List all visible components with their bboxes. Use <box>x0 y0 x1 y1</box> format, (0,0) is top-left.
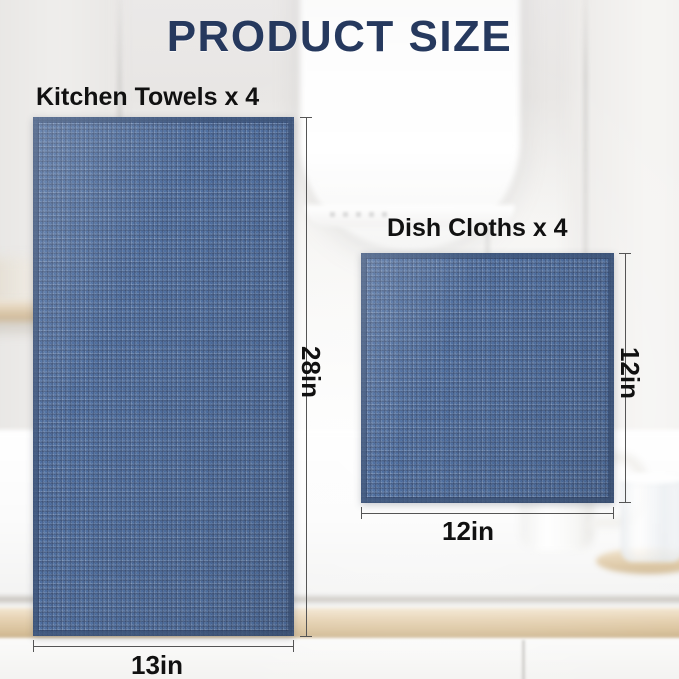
cloth-height-tick-top <box>619 253 631 254</box>
range-hood-lights <box>330 212 390 217</box>
cloth-width-tick-left <box>361 507 362 519</box>
kitchen-towel-swatch <box>33 117 294 636</box>
lower-cabinet <box>0 638 679 679</box>
cloth-height-tick-bottom <box>619 502 631 503</box>
towel-height-label: 28in <box>295 346 326 398</box>
cloth-height-label: 12in <box>614 347 645 399</box>
dish-cloth-swatch <box>361 253 614 503</box>
dish-cloths-label: Dish Cloths x 4 <box>387 214 568 243</box>
drinking-glass <box>621 476 679 562</box>
towel-sheen <box>33 117 294 636</box>
product-size-infographic: PRODUCT SIZE Kitchen Towels x 4 13in 28i… <box>0 0 679 679</box>
drinking-glass-rim <box>618 472 679 484</box>
cloth-width-label: 12in <box>442 516 494 547</box>
towel-height-tick-bottom <box>300 636 312 637</box>
cloth-sheen <box>361 253 614 503</box>
towel-width-dimension-line <box>33 646 294 647</box>
cloth-width-tick-right <box>613 507 614 519</box>
kitchen-towels-label: Kitchen Towels x 4 <box>36 83 259 112</box>
cloth-width-dimension-line <box>361 513 614 514</box>
towel-width-tick-left <box>33 640 34 652</box>
page-title: PRODUCT SIZE <box>0 12 679 62</box>
towel-width-label: 13in <box>131 650 183 679</box>
towel-width-tick-right <box>293 640 294 652</box>
cabinet-seam <box>522 640 525 679</box>
towel-height-tick-top <box>300 117 312 118</box>
